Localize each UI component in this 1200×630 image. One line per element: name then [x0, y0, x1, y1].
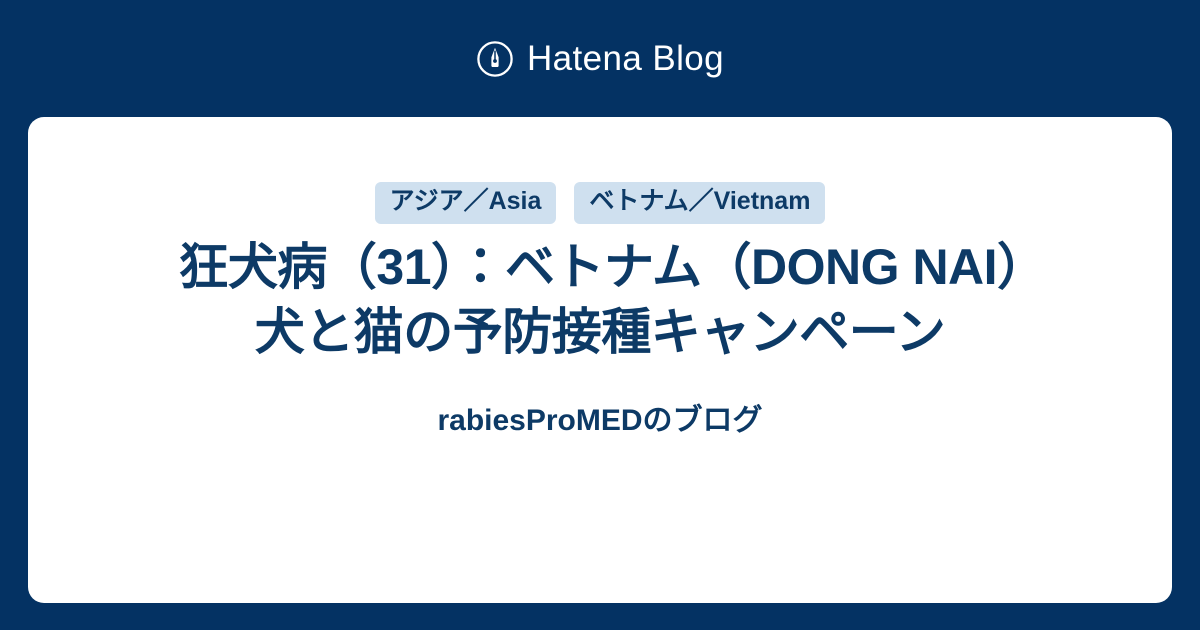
category-tag-list: アジア／Asia ベトナム／Vietnam: [375, 182, 826, 224]
brand-wordmark: Hatena Blog: [527, 41, 724, 76]
brand-header: Hatena Blog: [0, 0, 1200, 117]
ogp-card-root: Hatena Blog アジア／Asia ベトナム／Vietnam 狂犬病（31…: [0, 0, 1200, 630]
entry-card: アジア／Asia ベトナム／Vietnam 狂犬病（31）：ベトナム（DONG …: [28, 117, 1172, 603]
blog-name: rabiesProMEDのブログ: [437, 403, 762, 439]
category-tag-vietnam[interactable]: ベトナム／Vietnam: [574, 182, 825, 224]
category-tag-asia[interactable]: アジア／Asia: [375, 182, 557, 224]
hatena-pen-nib-icon: [476, 40, 514, 78]
entry-title: 狂犬病（31）：ベトナム（DONG NAI）犬と猫の予防接種キャンペーン: [170, 235, 1030, 365]
